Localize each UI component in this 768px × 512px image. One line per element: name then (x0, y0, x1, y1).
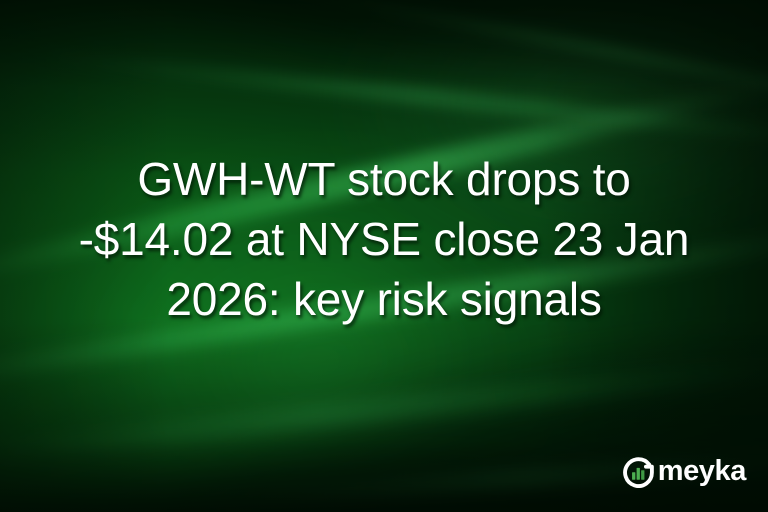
background-ribbon-bottom (0, 413, 727, 512)
banner-canvas: GWH-WT stock drops to -$14.02 at NYSE cl… (0, 0, 768, 512)
background-ribbon-top (54, 0, 768, 124)
bar-chart-in-ring-icon (622, 455, 655, 488)
headline-title: GWH-WT stock drops to -$14.02 at NYSE cl… (0, 149, 768, 329)
brand-logo: meyka (622, 455, 746, 488)
background-streak-5 (0, 351, 768, 467)
background-streak-1 (236, 0, 768, 134)
background-streak-2 (32, 47, 768, 153)
brand-wordmark: meyka (658, 457, 746, 486)
